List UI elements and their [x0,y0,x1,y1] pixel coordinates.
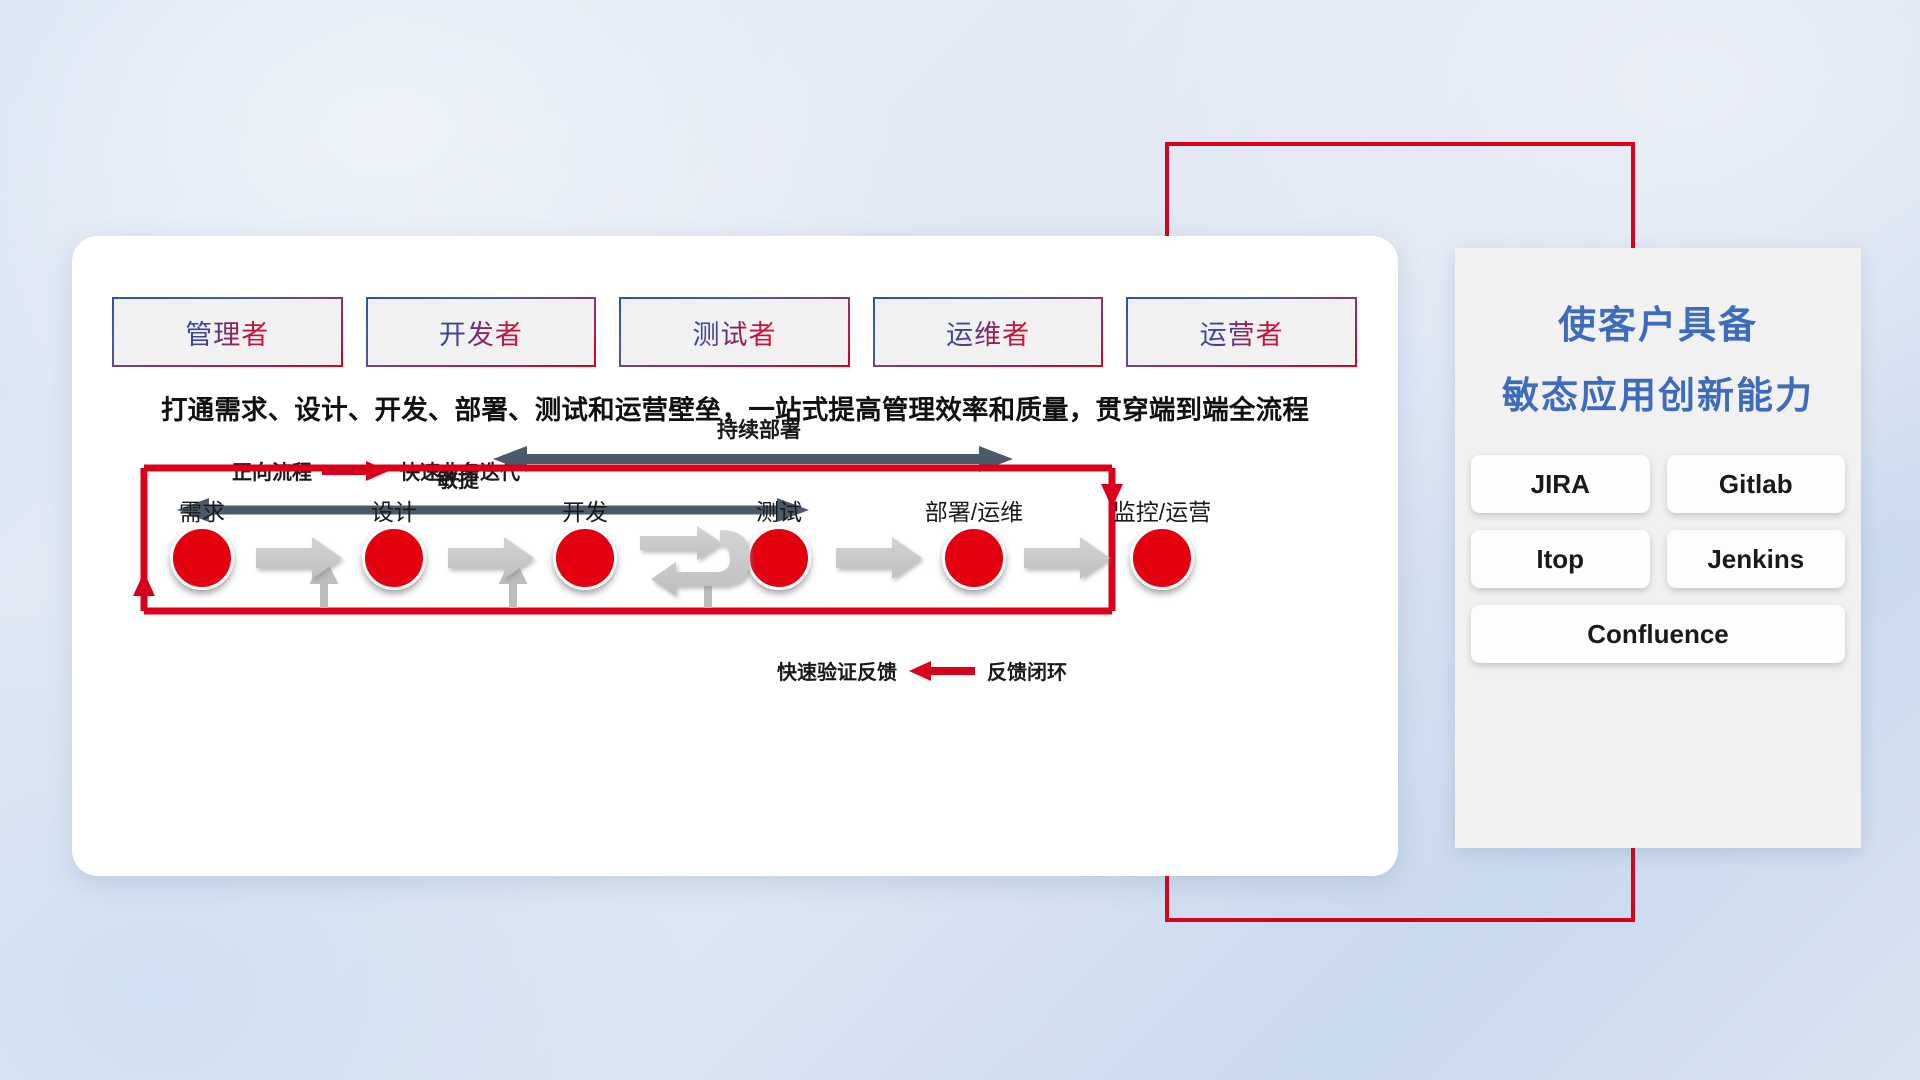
tool-chip-jira[interactable]: JIRA [1471,455,1650,513]
node-label-requirement: 需求 [179,493,225,527]
legend-feedback-right-label: 反馈闭环 [987,656,1067,685]
tool-chip-jenkins[interactable]: Jenkins [1667,530,1846,588]
role-label: 运维者 [946,313,1030,352]
node-label-test: 测试 [756,493,802,527]
role-label: 管理者 [185,313,269,352]
tool-chip-confluence[interactable]: Confluence [1471,605,1845,663]
legend-feedback-loop: 快速验证反馈 反馈闭环 [777,656,1067,685]
pipeline: 需求 设计 开发 测试 部署/运维 监控/运营 [72,496,1398,646]
node-label-monitor-operations: 监控/运营 [1113,493,1211,527]
node-label-design: 设计 [371,493,417,527]
role-label: 测试者 [692,313,776,352]
main-card: 管理者 开发者 测试者 运维者 运营者 打通需求、设计、开发、部署、测试和运营壁… [72,236,1398,876]
red-arrow-left-icon [909,660,975,682]
role-label: 开发者 [439,313,523,352]
role-label: 运营者 [1200,313,1284,352]
pipeline-node-design[interactable] [362,526,426,590]
pipeline-node-monitor-operations[interactable] [1130,526,1194,590]
pipeline-node-deploy-ops[interactable] [942,526,1006,590]
pipeline-node-requirement[interactable] [170,526,234,590]
sidebar-panel: 使客户具备 敏态应用创新能力 JIRA Gitlab Itop Jenkins … [1455,248,1861,848]
pipeline-node-develop[interactable] [553,526,617,590]
tool-chip-gitlab[interactable]: Gitlab [1667,455,1846,513]
tool-chip-itop[interactable]: Itop [1471,530,1650,588]
node-label-develop: 开发 [562,493,608,527]
pipeline-node-test[interactable] [747,526,811,590]
sidebar-title-line2: 敏态应用创新能力 [1455,365,1861,419]
sidebar-tools-grid: JIRA Gitlab Itop Jenkins Confluence [1455,455,1861,663]
node-label-deploy-ops: 部署/运维 [925,493,1023,527]
sidebar-title-line1: 使客户具备 [1455,294,1861,349]
legend-feedback-left-label: 快速验证反馈 [777,656,897,685]
